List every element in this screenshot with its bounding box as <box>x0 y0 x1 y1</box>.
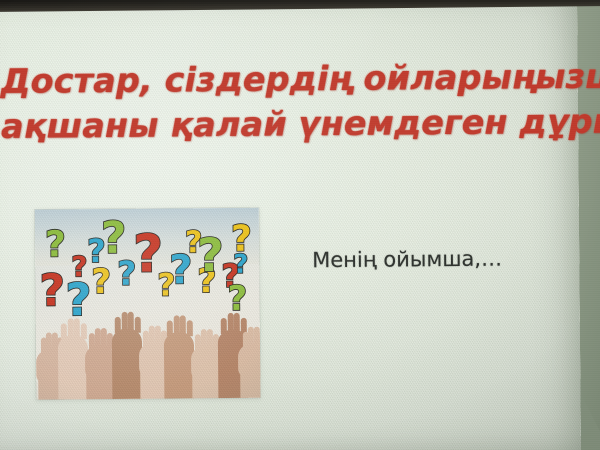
hand-finger <box>173 315 179 337</box>
hand-finger <box>135 317 141 333</box>
question-mark-icon: ? <box>91 265 111 299</box>
projected-slide-photo: Достар, сіздердің ойларыңызша, ақшаны қа… <box>0 0 600 450</box>
slide-title-line-2: ақшаны қалай үнемдеген дұрыс? <box>1 100 579 149</box>
hand-finger <box>187 320 193 336</box>
raised-hand <box>58 335 89 399</box>
hand-finger <box>121 312 127 334</box>
question-marks-hands-image: ?????????????????? <box>35 208 261 400</box>
raised-hand <box>86 345 115 400</box>
raised-hand <box>192 346 221 400</box>
question-mark-icon: ? <box>233 252 248 278</box>
hand-finger <box>180 315 186 337</box>
projection-screen: Достар, сіздердің ойларыңызша, ақшаны қа… <box>0 3 581 450</box>
hand-finger <box>81 323 87 339</box>
presentation-slide: Достар, сіздердің ойларыңызша, ақшаны қа… <box>0 3 581 450</box>
hand-finger <box>61 323 67 339</box>
hand-finger <box>74 318 80 340</box>
slide-title: Достар, сіздердің ойларыңызша, ақшаны қа… <box>0 55 579 149</box>
slide-body-text: Менің ойымша,… <box>312 245 502 275</box>
hand-finger <box>115 317 121 333</box>
question-mark-icon: ? <box>197 232 224 278</box>
hand-finger <box>234 313 240 335</box>
hand-finger <box>128 312 134 334</box>
hand-finger <box>221 318 227 334</box>
slide-title-line-1: Достар, сіздердің ойларыңызша, <box>0 55 578 104</box>
question-mark-icon: ? <box>65 277 92 322</box>
hand-finger <box>227 313 233 335</box>
raised-hand <box>164 332 195 399</box>
question-mark-icon: ? <box>227 282 247 316</box>
question-mark-icon: ? <box>45 227 66 263</box>
raised-hand <box>240 344 260 400</box>
hand-finger <box>67 318 73 340</box>
raised-hand <box>112 329 143 400</box>
question-mark-icon: ? <box>39 269 65 313</box>
hand-finger <box>259 332 261 348</box>
hand-finger <box>167 320 173 336</box>
